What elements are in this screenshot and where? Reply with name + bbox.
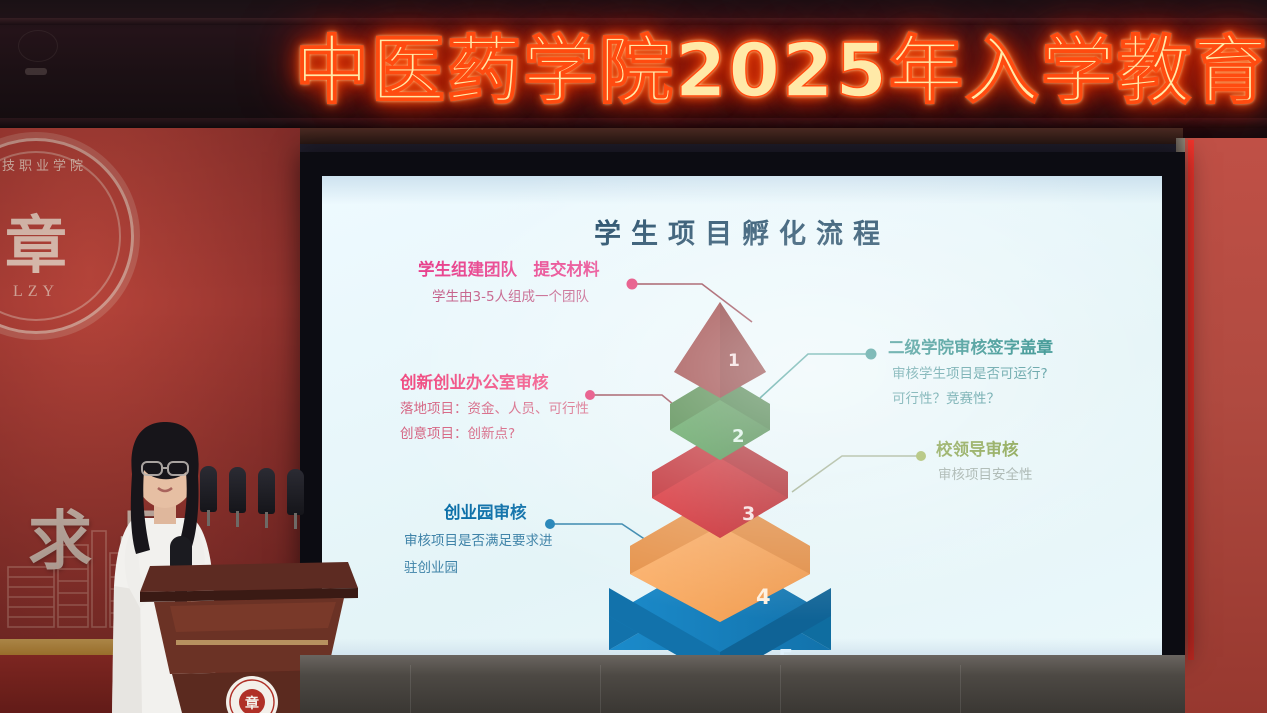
label-heading: 创业园审核 xyxy=(444,503,553,524)
pyramid-number-1: 1 xyxy=(728,351,740,371)
connector-line-4 xyxy=(760,354,870,398)
label-school-leader-review: 校领导审核 审核项目安全性 xyxy=(936,440,1033,485)
ceiling-beam-upper xyxy=(0,18,1267,25)
label-sub-line-2: 驻创业园 xyxy=(404,559,553,579)
emblem-glyph: 章 xyxy=(5,195,67,285)
wall-top-trim xyxy=(278,128,1183,144)
connector-line-1 xyxy=(633,284,752,322)
led-banner-text: 中医药学院2025年入学教育 xyxy=(295,26,1175,116)
backdrop-banner-right xyxy=(1185,138,1267,713)
lecture-hall-scene: 中医药学院2025年入学教育 科技职业学院 章 LZY 求是 xyxy=(0,0,1267,713)
stage-desk xyxy=(300,655,1185,713)
pyramid-number-4: 4 xyxy=(756,585,771,609)
connector-dot-5 xyxy=(916,451,926,461)
connector-dot-1 xyxy=(627,279,638,290)
pyramid-number-2: 2 xyxy=(732,426,745,447)
svg-text:章: 章 xyxy=(245,695,259,712)
microphone-icon xyxy=(287,469,304,515)
connector-dot-4 xyxy=(866,349,877,360)
ceiling-fixture-icon xyxy=(18,30,58,62)
presentation-slide: 学生项目孵化流程 xyxy=(322,176,1162,656)
emblem-abbreviation: LZY xyxy=(13,283,59,301)
label-student-team-formation: 学生组建团队 提交材料 学生由3-5人组成一个团队 xyxy=(418,260,600,307)
label-startup-park-review: 创业园审核 审核项目是否满足要求进 驻创业园 xyxy=(404,503,553,579)
label-sub-line-2: 可行性？竞赛性？ xyxy=(892,390,1053,410)
label-sub: 学生由3-5人组成一个团队 xyxy=(432,288,600,308)
school-emblem-icon: 科技职业学院 章 LZY xyxy=(0,138,134,334)
ceiling-beam-lower xyxy=(0,118,1267,128)
label-sub-line-1: 审核项目是否满足要求进 xyxy=(404,532,553,552)
label-heading: 二级学院审核签字盖章 xyxy=(888,338,1053,359)
ceiling-light-icon xyxy=(25,68,47,75)
backdrop-right-highlight xyxy=(1188,140,1194,660)
pyramid-number-3: 3 xyxy=(742,503,755,525)
emblem-inner-ring xyxy=(0,151,121,321)
label-college-review-signature: 二级学院审核签字盖章 审核学生项目是否可运行? 可行性？竞赛性？ xyxy=(888,338,1053,410)
label-heading: 学生组建团队 提交材料 xyxy=(418,260,600,281)
label-heading: 校领导审核 xyxy=(936,440,1033,461)
label-innovation-office-review: 创新创业办公室审核 落地项目：资金、人员、可行性 创意项目：创新点? xyxy=(400,373,589,445)
emblem-top-text: 科技职业学院 xyxy=(0,155,87,174)
label-heading: 创新创业办公室审核 xyxy=(400,373,589,394)
pyramid-level-1 xyxy=(674,302,766,398)
label-sub-line-1: 落地项目：资金、人员、可行性 xyxy=(400,400,589,420)
connector-line-5 xyxy=(792,456,920,492)
label-sub-line-2: 创意项目：创新点? xyxy=(400,425,589,445)
label-sub: 审核项目安全性 xyxy=(938,466,1033,486)
label-sub-line-1: 审核学生项目是否可运行? xyxy=(892,365,1053,385)
